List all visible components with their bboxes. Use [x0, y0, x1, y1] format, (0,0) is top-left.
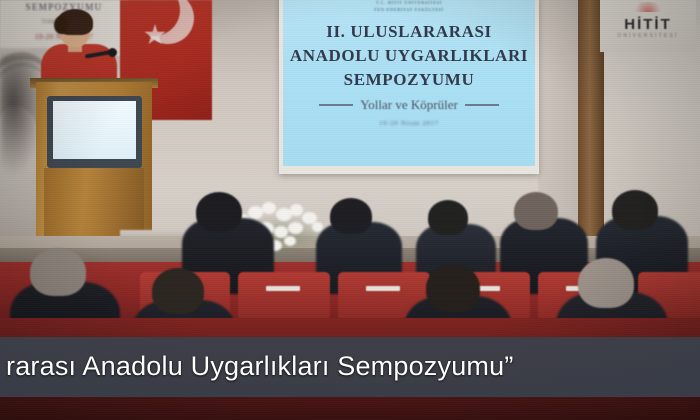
scene-element: [290, 204, 303, 216]
university-logo-icon: [632, 2, 664, 12]
microphone-head-icon: [108, 48, 117, 57]
university-sign-name: HİTİT: [600, 16, 696, 33]
seat-number-tag: [266, 286, 300, 291]
scene-element: [284, 236, 296, 246]
university-sign: HİTİT ÜNİVERSİTESİ: [600, 0, 696, 52]
seat-number-tag: [366, 286, 400, 291]
audience-head: [426, 264, 480, 312]
podium-monitor-screen: [53, 101, 136, 159]
slide-organizer-line-2: FEN-EDEBİYAT FAKÜLTESİ: [283, 7, 535, 12]
audience-head: [514, 192, 558, 230]
slide-title-line-3: SEMPOZYUMU: [283, 70, 535, 90]
caption-text: rarası Anadolu Uygarlıkları Sempozyumu”: [0, 351, 700, 382]
slide-date: 19-20 Nisan 2017: [283, 120, 535, 127]
audience-head: [330, 198, 372, 234]
scene-element: [248, 206, 263, 219]
slide-title-line-2: ANADOLU UYGARLIKLARI: [283, 46, 535, 66]
audience-head: [578, 258, 634, 308]
audience-head: [152, 268, 204, 314]
projection-screen: T.C. HİTİT ÜNİVERSİTESİ FEN-EDEBİYAT FAK…: [283, 0, 535, 166]
scene-element: [288, 222, 303, 234]
scene-element: [262, 202, 276, 214]
slide-dash-left: [319, 104, 353, 106]
audience-head: [30, 248, 86, 296]
audience-head: [428, 200, 468, 235]
caption-bar: rarası Anadolu Uygarlıkları Sempozyumu”: [0, 337, 700, 397]
slide-subtitle-row: Yollar ve Köprüler: [283, 97, 535, 113]
auditorium-seat: [238, 272, 330, 318]
slide-subtitle: Yollar ve Köprüler: [360, 97, 458, 113]
slide-title-line-1: II. ULUSLARARASI: [283, 22, 535, 42]
speaker-hair-bun: [54, 16, 68, 34]
video-still: HİTİT ÜNİVERSİTESİ SEMPOZYUMU Yollar ve …: [0, 0, 700, 420]
slide-organizer-line-1: T.C. HİTİT ÜNİVERSİTESİ: [283, 0, 535, 5]
audience-head: [196, 192, 242, 232]
slide-dash-right: [465, 104, 499, 106]
university-sign-subtitle: ÜNİVERSİTESİ: [600, 33, 696, 39]
audience-head: [612, 190, 658, 230]
